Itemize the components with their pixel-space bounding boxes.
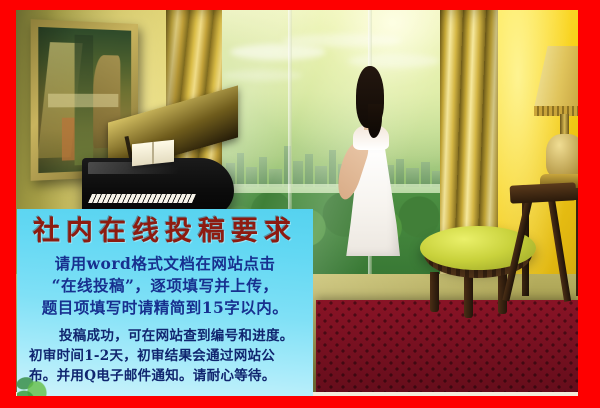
console-table-leg: [576, 200, 578, 296]
sheet-music-fold: [152, 142, 154, 164]
poster-root: 社内在线投稿要求 请用word格式文档在网站点击 “在线投稿”，逐项填写并上传，…: [0, 0, 600, 408]
chair-back: [510, 182, 577, 203]
piano-keys: [88, 194, 196, 203]
notice-body: 请用word格式文档在网站点击 “在线投稿”，逐项填写并上传， 题目项填写时请精…: [25, 253, 305, 319]
notice-body-line: 请用word格式文档在网站点击: [25, 253, 305, 275]
notice-title: 社内在线投稿要求: [25, 215, 305, 249]
notice-body-line: 题目项填写时请精简到15字以内。: [25, 297, 305, 319]
notice-note-line: 投稿成功，可在网站查到编号和进度。: [29, 326, 305, 346]
notice-body-line: “在线投稿”，逐项填写并上传，: [25, 275, 305, 297]
woman-in-white-dress: [338, 66, 404, 256]
notice-note-line: 初审时间1-2天，初审结果会通过网站公: [29, 346, 305, 366]
notice-panel: 社内在线投稿要求 请用word格式文档在网站点击 “在线投稿”，逐项填写并上传，…: [17, 209, 313, 396]
lamp-neck: [560, 114, 569, 136]
artwork-shape: [62, 117, 75, 160]
red-patterned-carpet: [316, 300, 578, 396]
notice-note-text: 投稿成功，可在网站查到编号和进度。: [29, 326, 294, 346]
stool-leg: [430, 272, 439, 312]
stool-leg: [464, 276, 473, 318]
lamp-shade-fringe: [534, 106, 578, 116]
artwork-shape: [48, 94, 119, 107]
notice-note: 投稿成功，可在网站查到编号和进度。 初审时间1-2天，初审结果会通过网站公 布。…: [25, 326, 305, 387]
notice-note-line: 布。并用Q电子邮件通知。请耐心等待。: [29, 366, 305, 386]
notice-panel-content: 社内在线投稿要求 请用word格式文档在网站点击 “在线投稿”，逐项填写并上传，…: [17, 209, 313, 387]
lamp-base: [546, 134, 578, 178]
